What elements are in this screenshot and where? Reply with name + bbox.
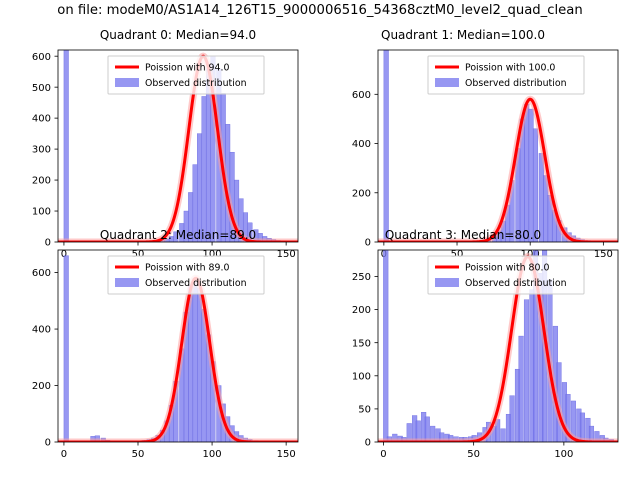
y-tick-label: 600 — [32, 52, 51, 63]
figure-suptitle: on file: modeM0/AS1A14_126T15_9000006516… — [57, 3, 582, 18]
y-tick-label: 100 — [352, 371, 371, 382]
histogram-bar — [529, 109, 534, 242]
legend: Poission with 80.0Observed distribution — [428, 256, 584, 294]
y-tick-label: 50 — [358, 404, 371, 415]
subplot-title-quadrant-3: Quadrant 3: Median=80.0 — [385, 228, 541, 242]
histogram-bar — [524, 300, 529, 442]
histogram-bar — [510, 396, 515, 442]
y-tick-label: 0 — [365, 438, 371, 449]
legend-label-observed: Observed distribution — [465, 278, 567, 289]
subplot-title-quadrant-2: Quadrant 2: Median=89.0 — [100, 228, 256, 242]
x-tick-label: 0 — [380, 449, 386, 460]
y-tick-label: 200 — [32, 381, 51, 392]
legend: Poission with 94.0Observed distribution — [108, 56, 264, 94]
y-tick-label: 300 — [32, 145, 51, 156]
x-tick-label: 150 — [277, 449, 296, 460]
x-tick-label: 100 — [554, 449, 573, 460]
y-tick-label: 600 — [352, 90, 371, 101]
y-tick-label: 200 — [352, 188, 371, 199]
legend-swatch-observed — [115, 78, 139, 87]
histogram-bar — [501, 429, 506, 442]
y-tick-label: 100 — [32, 207, 51, 218]
y-tick-label: 600 — [32, 268, 51, 279]
legend-swatch-observed — [115, 278, 139, 287]
histogram-bar — [197, 288, 202, 442]
histogram-bar — [425, 417, 430, 442]
y-tick-label: 250 — [352, 272, 371, 283]
matplotlib-figure: on file: modeM0/AS1A14_126T15_9000006516… — [0, 0, 640, 480]
x-tick-label: 0 — [61, 449, 67, 460]
y-tick-label: 400 — [352, 139, 371, 150]
subplot-quadrant-3: Quadrant 3: Median=80.0 0501000501001502… — [320, 228, 640, 480]
legend-label-observed: Observed distribution — [145, 78, 247, 89]
legend-label-poisson: Poission with 80.0 — [465, 263, 549, 274]
x-tick-label: 50 — [132, 449, 145, 460]
histogram-bar — [383, 243, 388, 442]
x-tick-label: 50 — [467, 449, 480, 460]
legend-swatch-observed — [435, 278, 459, 287]
x-tick-label: 100 — [203, 449, 222, 460]
histogram-bar — [519, 336, 524, 442]
histogram-bar — [64, 256, 69, 442]
y-tick-label: 500 — [32, 83, 51, 94]
histogram-bar — [64, 44, 69, 242]
histogram-bar — [533, 129, 538, 242]
legend-label-observed: Observed distribution — [145, 278, 247, 289]
legend-swatch-observed — [435, 78, 459, 87]
legend-label-poisson: Poission with 94.0 — [145, 63, 229, 74]
subplot-quadrant-2: Quadrant 2: Median=89.0 0501001500200400… — [0, 228, 320, 480]
legend: Poission with 100.0Observed distribution — [428, 56, 584, 94]
subplot-quadrant-0: Quadrant 0: Median=94.0 0501001500100200… — [0, 28, 320, 257]
y-tick-label: 400 — [32, 114, 51, 125]
subplot-title-quadrant-0: Quadrant 0: Median=94.0 — [100, 28, 256, 42]
subplot-title-quadrant-1: Quadrant 1: Median=100.0 — [381, 28, 545, 42]
legend-label-poisson: Poission with 89.0 — [145, 263, 229, 274]
poisson-curve-glow — [378, 99, 618, 242]
legend: Poission with 89.0Observed distribution — [108, 256, 264, 294]
y-tick-label: 200 — [352, 305, 371, 316]
legend-label-observed: Observed distribution — [465, 78, 567, 89]
histogram-bar — [384, 45, 389, 242]
y-tick-label: 150 — [352, 338, 371, 349]
y-tick-label: 400 — [32, 325, 51, 336]
y-tick-label: 200 — [32, 176, 51, 187]
legend-label-poisson: Poission with 100.0 — [465, 63, 555, 74]
histogram-bar — [202, 96, 207, 242]
subplot-quadrant-1: Quadrant 1: Median=100.0 050100150020040… — [320, 28, 640, 257]
y-tick-label: 0 — [45, 438, 51, 449]
histogram-bar — [193, 278, 198, 442]
histogram-bar — [524, 104, 529, 242]
histogram-bar — [197, 134, 202, 242]
